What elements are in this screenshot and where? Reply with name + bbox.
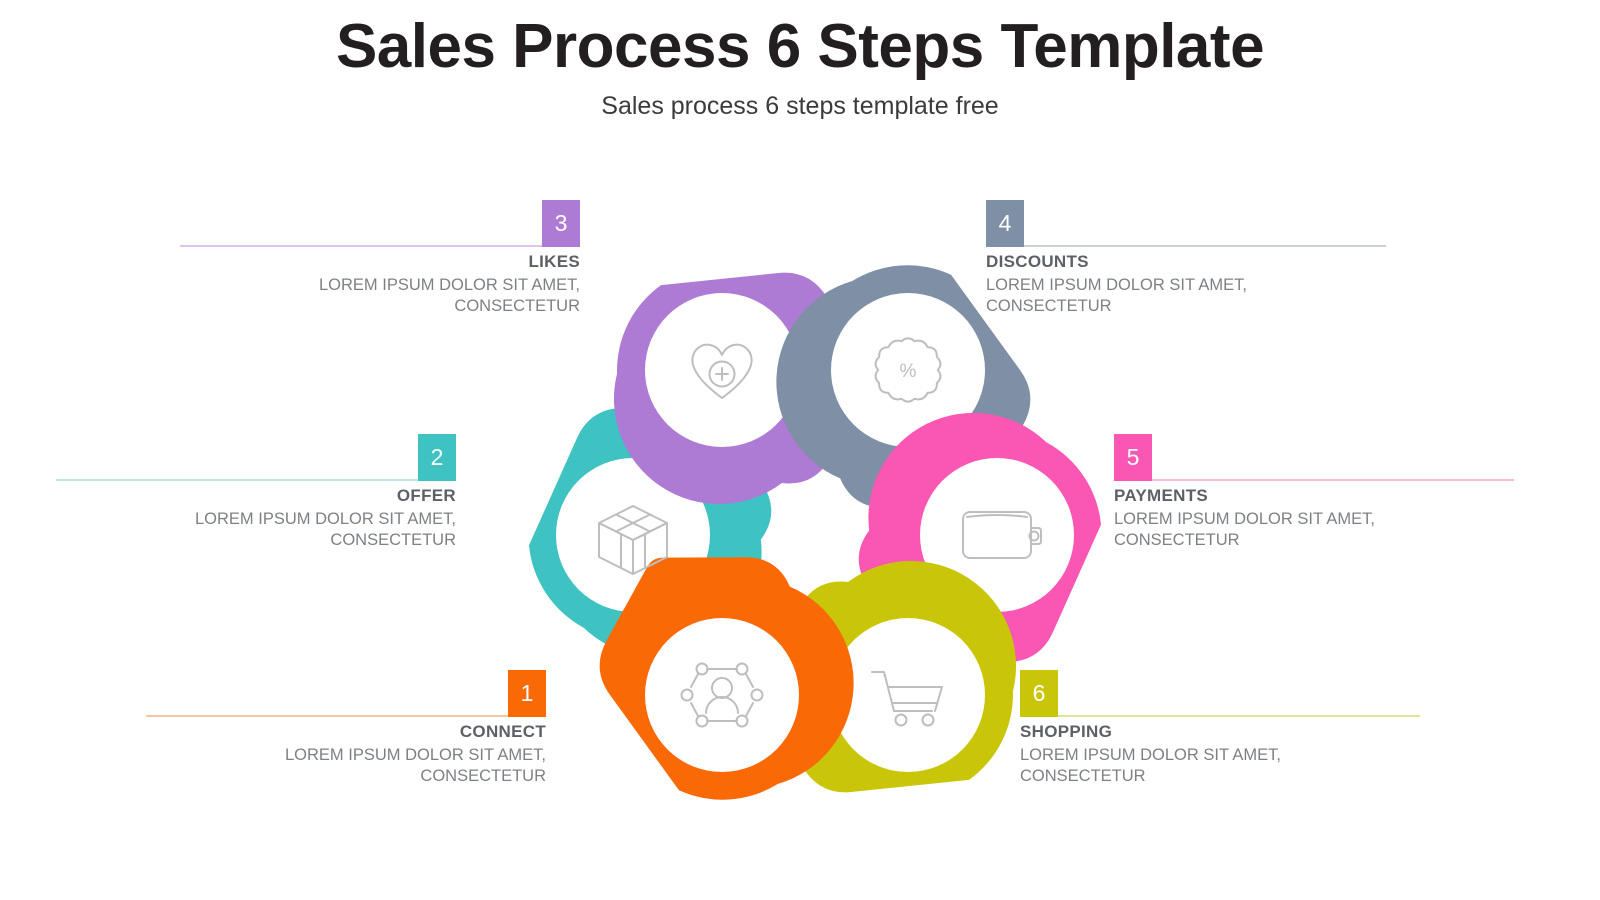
rule-row: 6 — [1020, 670, 1420, 717]
step-description-line1: LOREM IPSUM DOLOR SIT AMET, — [1020, 746, 1281, 764]
step-callout-offer[interactable]: 2 OFFER LOREM IPSUM DOLOR SIT AMET, CONS… — [56, 434, 456, 551]
step-description-line2: CONSECTETUR — [330, 531, 456, 549]
step-title: PAYMENTS — [1114, 486, 1514, 506]
step-badge: 2 — [418, 434, 456, 481]
connector-rule — [1152, 479, 1514, 481]
step-description: LOREM IPSUM DOLOR SIT AMET, CONSECTETUR — [180, 275, 580, 316]
step-badge: 4 — [986, 200, 1024, 247]
step-description-line2: CONSECTETUR — [420, 767, 546, 785]
step-callout-connect[interactable]: 1 CONNECT LOREM IPSUM DOLOR SIT AMET, CO… — [146, 670, 546, 787]
step-description: LOREM IPSUM DOLOR SIT AMET, CONSECTETUR — [1114, 509, 1514, 550]
connector-rule — [56, 479, 418, 481]
step-description-line1: LOREM IPSUM DOLOR SIT AMET, — [1114, 510, 1375, 528]
step-badge: 1 — [508, 670, 546, 717]
step-description: LOREM IPSUM DOLOR SIT AMET, CONSECTETUR — [56, 509, 456, 550]
connector-rule — [180, 245, 542, 247]
rule-row: 3 — [180, 200, 580, 247]
step-title: SHOPPING — [1020, 722, 1420, 742]
step-callout-payments[interactable]: 5 PAYMENTS LOREM IPSUM DOLOR SIT AMET, C… — [1114, 434, 1514, 551]
step-title: DISCOUNTS — [986, 252, 1386, 272]
step-description: LOREM IPSUM DOLOR SIT AMET, CONSECTETUR — [986, 275, 1386, 316]
step-description-line2: CONSECTETUR — [1020, 767, 1146, 785]
diagram-stage: % — [0, 0, 1600, 900]
step-description-line1: LOREM IPSUM DOLOR SIT AMET, — [319, 276, 580, 294]
step-description-line2: CONSECTETUR — [986, 297, 1112, 315]
step-description-line1: LOREM IPSUM DOLOR SIT AMET, — [195, 510, 456, 528]
step-callout-shopping[interactable]: 6 SHOPPING LOREM IPSUM DOLOR SIT AMET, C… — [1020, 670, 1420, 787]
connector-rule — [1058, 715, 1420, 717]
rule-row: 1 — [146, 670, 546, 717]
rule-row: 5 — [1114, 434, 1514, 481]
connector-rule — [1024, 245, 1386, 247]
rule-row: 2 — [56, 434, 456, 481]
step-description: LOREM IPSUM DOLOR SIT AMET, CONSECTETUR — [146, 745, 546, 786]
rule-row: 4 — [986, 200, 1386, 247]
step-description: LOREM IPSUM DOLOR SIT AMET, CONSECTETUR — [1020, 745, 1420, 786]
svg-text:%: % — [900, 361, 917, 382]
step-callout-likes[interactable]: 3 LIKES LOREM IPSUM DOLOR SIT AMET, CONS… — [180, 200, 580, 317]
step-callout-discounts[interactable]: 4 DISCOUNTS LOREM IPSUM DOLOR SIT AMET, … — [986, 200, 1386, 317]
step-description-line1: LOREM IPSUM DOLOR SIT AMET, — [986, 276, 1247, 294]
six-step-cycle-wheel: % — [470, 240, 1110, 820]
connector-rule — [146, 715, 508, 717]
step-badge: 5 — [1114, 434, 1152, 481]
step-description-line2: CONSECTETUR — [454, 297, 580, 315]
step-title: OFFER — [56, 486, 456, 506]
step-description-line1: LOREM IPSUM DOLOR SIT AMET, — [285, 746, 546, 764]
step-title: LIKES — [180, 252, 580, 272]
step-badge: 3 — [542, 200, 580, 247]
step-badge: 6 — [1020, 670, 1058, 717]
step-title: CONNECT — [146, 722, 546, 742]
step-description-line2: CONSECTETUR — [1114, 531, 1240, 549]
